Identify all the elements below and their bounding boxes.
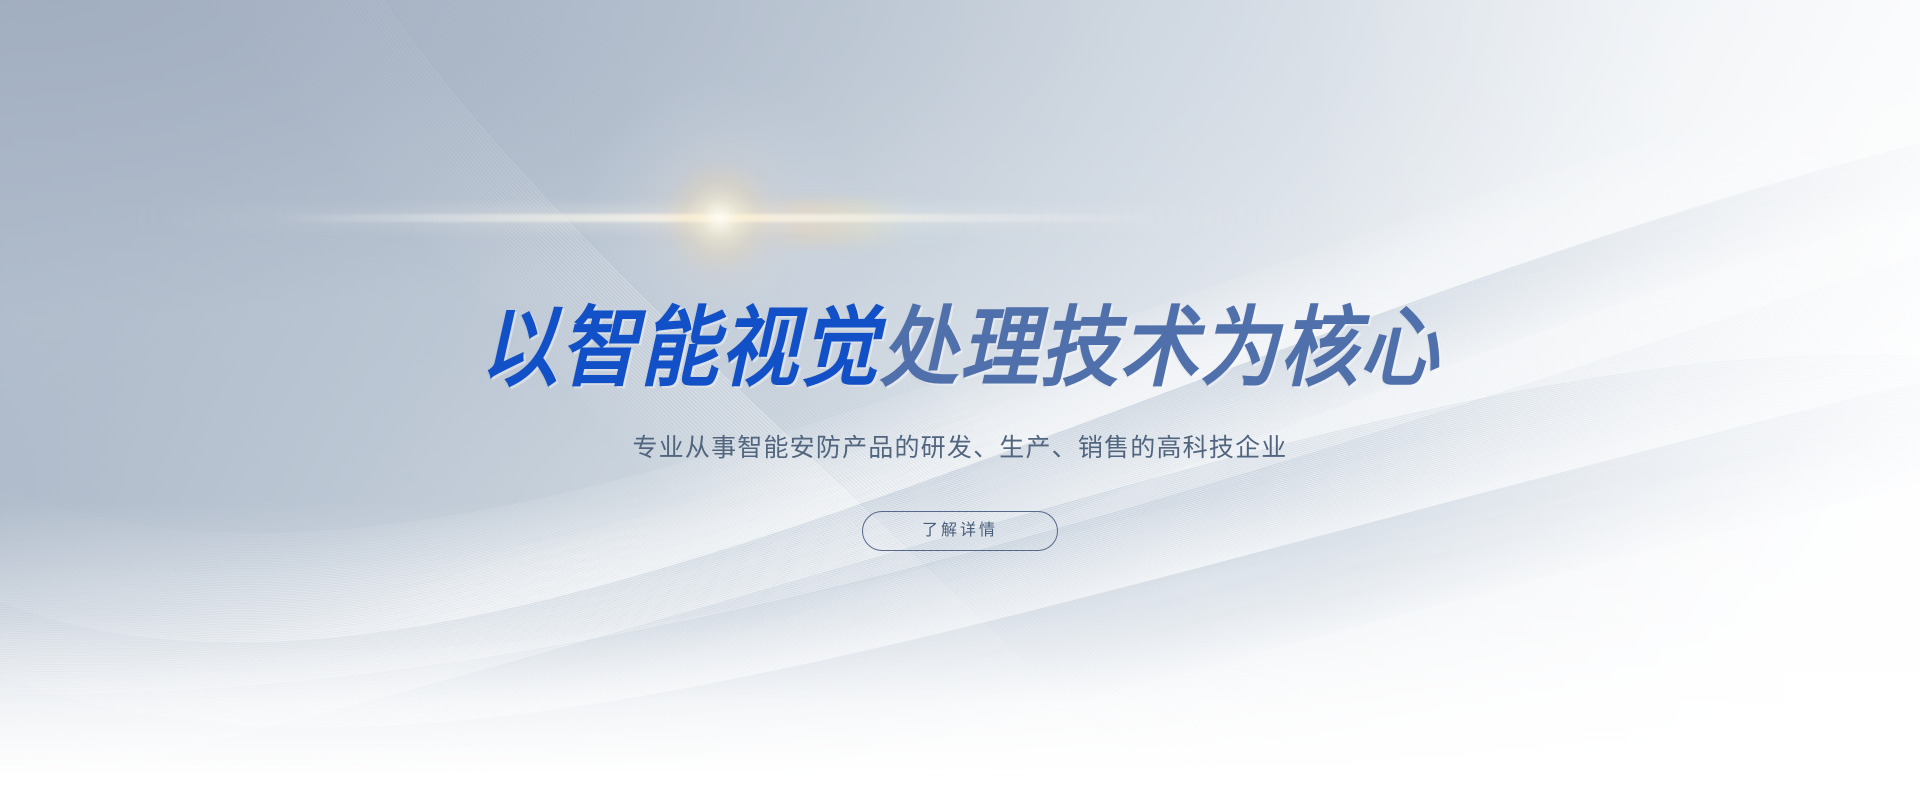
headline-segment-primary: 以智能视觉	[480, 299, 880, 398]
hero-banner: 以智能视觉处理技术为核心 专业从事智能安防产品的研发、生产、销售的高科技企业 了…	[0, 0, 1920, 800]
headline-segment-secondary: 处理技术为核心	[880, 299, 1440, 398]
banner-content: 以智能视觉处理技术为核心 专业从事智能安防产品的研发、生产、销售的高科技企业 了…	[0, 0, 1920, 800]
page-subtitle: 专业从事智能安防产品的研发、生产、销售的高科技企业	[0, 431, 1920, 466]
page-title: 以智能视觉处理技术为核心	[0, 304, 1920, 391]
learn-more-button[interactable]: 了解详情	[862, 511, 1058, 551]
cta-container: 了解详情	[0, 511, 1920, 551]
